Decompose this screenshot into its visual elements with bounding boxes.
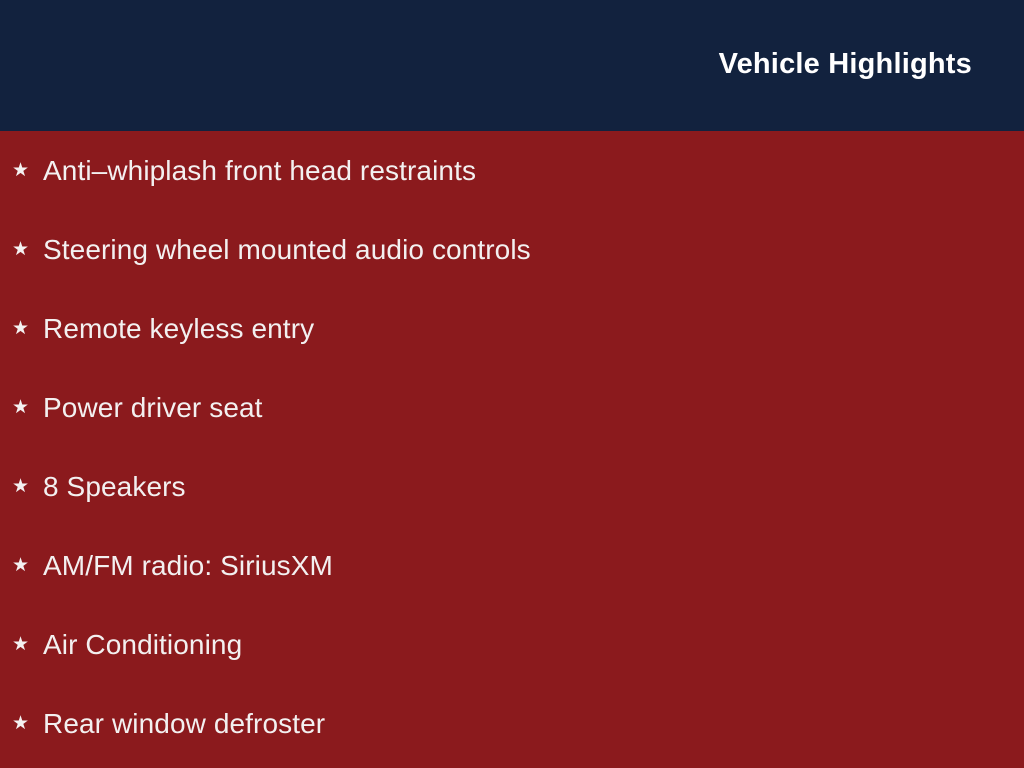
slide-body: ★ Anti–whiplash front head restraints ★ … [0,131,1024,768]
list-item: ★ Power driver seat [0,368,1024,447]
vehicle-highlights-slide: Vehicle Highlights ★ Anti–whiplash front… [0,0,1024,768]
list-item: ★ Steering wheel mounted audio controls [0,210,1024,289]
feature-label: Power driver seat [43,391,263,425]
star-bullet-icon: ★ [12,556,34,575]
list-item: ★ 8 Speakers [0,447,1024,526]
feature-label: Remote keyless entry [43,312,314,346]
star-bullet-icon: ★ [12,477,34,496]
feature-label: Rear window defroster [43,707,325,741]
star-bullet-icon: ★ [12,635,34,654]
star-bullet-icon: ★ [12,398,34,417]
star-bullet-icon: ★ [12,161,34,180]
feature-label: AM/FM radio: SiriusXM [43,549,333,583]
star-bullet-icon: ★ [12,319,34,338]
vehicle-feature-list: ★ Anti–whiplash front head restraints ★ … [0,131,1024,763]
feature-label: Air Conditioning [43,628,242,662]
page-title: Vehicle Highlights [719,46,972,82]
list-item: ★ Rear window defroster [0,684,1024,763]
star-bullet-icon: ★ [12,240,34,259]
feature-label: 8 Speakers [43,470,186,504]
list-item: ★ Anti–whiplash front head restraints [0,131,1024,210]
star-bullet-icon: ★ [12,714,34,733]
slide-header-band: Vehicle Highlights [0,0,1024,131]
feature-label: Steering wheel mounted audio controls [43,233,531,267]
list-item: ★ Remote keyless entry [0,289,1024,368]
list-item: ★ Air Conditioning [0,605,1024,684]
list-item: ★ AM/FM radio: SiriusXM [0,526,1024,605]
feature-label: Anti–whiplash front head restraints [43,154,476,188]
